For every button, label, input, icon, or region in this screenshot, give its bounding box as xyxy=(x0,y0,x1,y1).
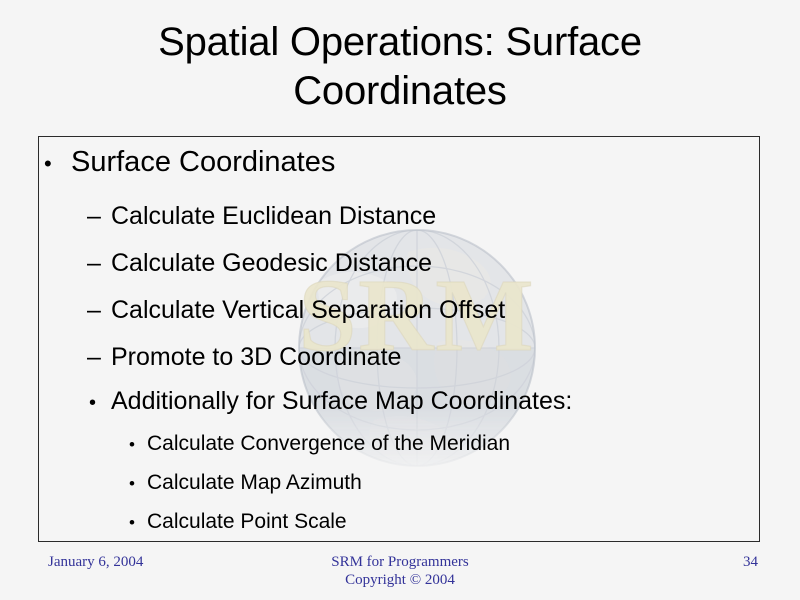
list-item-label: Additionally for Surface Map Coordinates… xyxy=(111,386,572,416)
footer-center: SRM for Programmers Copyright © 2004 xyxy=(200,553,600,589)
list-item: – Calculate Euclidean Distance xyxy=(87,201,436,231)
list-item: – Calculate Vertical Separation Offset xyxy=(87,295,505,325)
bullet-marker-dot: • xyxy=(129,432,147,458)
bullet-marker-dash: – xyxy=(87,295,111,325)
list-item: • Calculate Point Scale xyxy=(129,509,347,536)
bullet-marker-dot: • xyxy=(44,147,71,181)
list-item-label: Calculate Euclidean Distance xyxy=(111,201,436,231)
bullet-list: • Surface Coordinates – Calculate Euclid… xyxy=(39,137,759,541)
list-item-label: Calculate Geodesic Distance xyxy=(111,248,432,278)
list-item: • Additionally for Surface Map Coordinat… xyxy=(89,386,572,418)
slide-title: Spatial Operations: Surface Coordinates xyxy=(40,18,760,116)
list-item: • Calculate Convergence of the Meridian xyxy=(129,431,510,458)
bullet-marker-dot: • xyxy=(89,388,111,418)
content-placeholder-box: • Surface Coordinates – Calculate Euclid… xyxy=(38,136,760,542)
list-item: • Calculate Map Azimuth xyxy=(129,470,362,497)
list-item-label: Calculate Point Scale xyxy=(147,509,347,535)
slide-title-line-2: Coordinates xyxy=(40,67,760,116)
list-item-label: Surface Coordinates xyxy=(71,145,335,179)
list-item-label: Calculate Convergence of the Meridian xyxy=(147,431,510,457)
footer-page-number: 34 xyxy=(700,553,758,571)
footer-copyright: Copyright © 2004 xyxy=(200,571,600,589)
bullet-marker-dot: • xyxy=(129,471,147,497)
footer-date: January 6, 2004 xyxy=(48,553,143,571)
list-item-label: Calculate Map Azimuth xyxy=(147,470,362,496)
list-item-label: Promote to 3D Coordinate xyxy=(111,342,401,372)
list-item: • Surface Coordinates xyxy=(44,145,335,181)
bullet-marker-dash: – xyxy=(87,201,111,231)
list-item: – Promote to 3D Coordinate xyxy=(87,342,401,372)
list-item: – Calculate Geodesic Distance xyxy=(87,248,432,278)
footer-title: SRM for Programmers xyxy=(200,553,600,571)
bullet-marker-dash: – xyxy=(87,248,111,278)
bullet-marker-dash: – xyxy=(87,342,111,372)
list-item-label: Calculate Vertical Separation Offset xyxy=(111,295,505,325)
bullet-marker-dot: • xyxy=(129,510,147,536)
slide-title-line-1: Spatial Operations: Surface xyxy=(40,18,760,67)
presentation-slide: SRM SRM Spatial Operations: Surface Coor… xyxy=(0,0,800,600)
